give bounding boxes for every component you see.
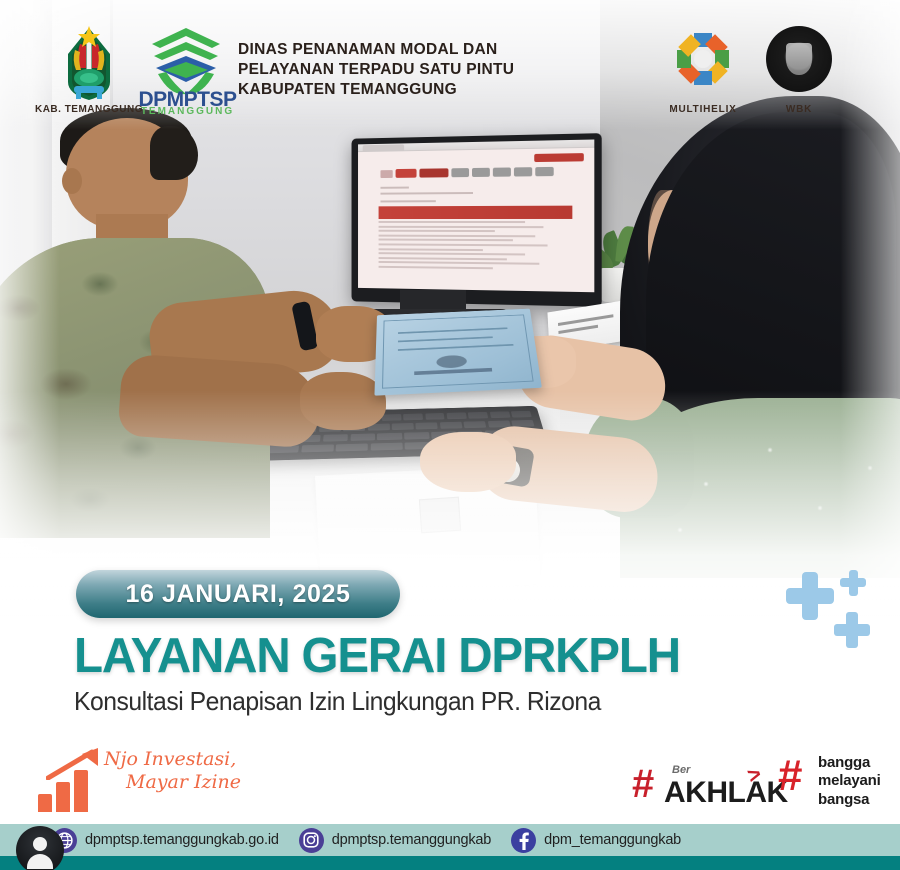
plus-decoration-small (840, 578, 866, 587)
footer-item-facebook[interactable]: dpm_temanggungkab (511, 828, 681, 853)
footer-accent-strip (0, 856, 900, 870)
screen-nav-row (380, 167, 553, 178)
date-badge: 16 JANUARI, 2025 (76, 570, 400, 618)
screen-table-body (379, 221, 573, 274)
facebook-text: dpm_temanggungkab (544, 832, 681, 848)
bangga-melayani-bangsa-logo: # bangga melayani bangsa (778, 752, 900, 812)
screen-table-header (379, 206, 573, 219)
dpmptsp-subword: TEMANGGUNG (125, 106, 250, 117)
sponsor-row: Njo Investasi, Mayar Izine # Ber AKHLAK … (0, 740, 900, 824)
woman-hand-lower (420, 432, 516, 492)
organization-title: DINAS PENANAMAN MODAL DAN PELAYANAN TERP… (238, 40, 668, 99)
akhlak-main: AKHLAK (664, 778, 788, 808)
instagram-icon (299, 828, 324, 853)
org-line-3: KABUPATEN TEMANGGUNG (238, 80, 668, 100)
bangga-line-3: bangsa (818, 791, 881, 809)
page-subtitle: Konsultasi Penapisan Izin Lingkungan PR.… (74, 686, 601, 717)
avatar-head (33, 837, 47, 851)
footer-item-website[interactable]: dpmptsp.temanggungkab.go.id (52, 828, 279, 853)
wbk-seal-icon (766, 26, 832, 92)
org-line-1: DINAS PENANAMAN MODAL DAN (238, 40, 668, 60)
akhlak-hash: # (632, 764, 654, 804)
blue-document (374, 309, 541, 396)
wbk-label: WBK (756, 104, 842, 115)
plus-decoration-medium (834, 624, 870, 636)
footer-bar: dpmptsp.temanggungkab.go.id dpmptsp.tema… (0, 824, 900, 870)
njo-line-1: Njo Investasi, (104, 748, 294, 771)
screen-button-red (534, 153, 584, 162)
bangga-line-2: melayani (818, 772, 881, 790)
monitor-screen (358, 139, 594, 292)
temanggung-regency-crest-icon (58, 24, 120, 104)
org-line-2: PELAYANAN TERPADU SATU PINTU (238, 60, 668, 80)
multihelix-label: MULTIHELIX (655, 104, 751, 115)
multihelix-wheel-icon (672, 28, 734, 90)
bangga-lines: bangga melayani bangsa (818, 754, 881, 809)
njo-investasi-logo: Njo Investasi, Mayar Izine (38, 746, 288, 816)
document-border (382, 314, 534, 388)
avatar-body (27, 854, 53, 869)
footer-contact-list: dpmptsp.temanggungkab.go.id dpmptsp.tema… (52, 824, 701, 856)
browser-chrome (358, 139, 594, 152)
poster-canvas: KAB. TEMANGGUNG DPMPTSP TEMANGGUNG DINAS… (0, 0, 900, 870)
njo-tagline: Njo Investasi, Mayar Izine (104, 748, 294, 794)
akhlak-ber: Ber (672, 764, 690, 776)
instagram-text: dpmptsp.temanggungkab (332, 832, 491, 848)
man-ear (62, 168, 82, 194)
plus-decoration-large (786, 588, 834, 604)
bangga-line-1: bangga (818, 754, 881, 772)
njo-line-2: Mayar Izine (126, 771, 294, 794)
berakhlak-logo: # Ber AKHLAK > (632, 756, 772, 808)
avatar (16, 826, 64, 870)
page-title: LAYANAN GERAI DPRKPLH (74, 632, 680, 681)
desktop-monitor (352, 133, 602, 307)
counter-stamp (419, 497, 461, 534)
footer-item-instagram[interactable]: dpmptsp.temanggungkab (299, 828, 491, 853)
wbk-shield (786, 43, 812, 75)
date-text: 16 JANUARI, 2025 (126, 580, 351, 609)
poster-header: KAB. TEMANGGUNG DPMPTSP TEMANGGUNG DINAS… (0, 0, 900, 130)
bangga-hash: # (778, 754, 802, 798)
facebook-icon (511, 828, 536, 853)
dpmptsp-logo-icon (140, 26, 232, 96)
website-text: dpmptsp.temanggungkab.go.id (85, 832, 279, 848)
man-hand-lower (300, 372, 386, 430)
